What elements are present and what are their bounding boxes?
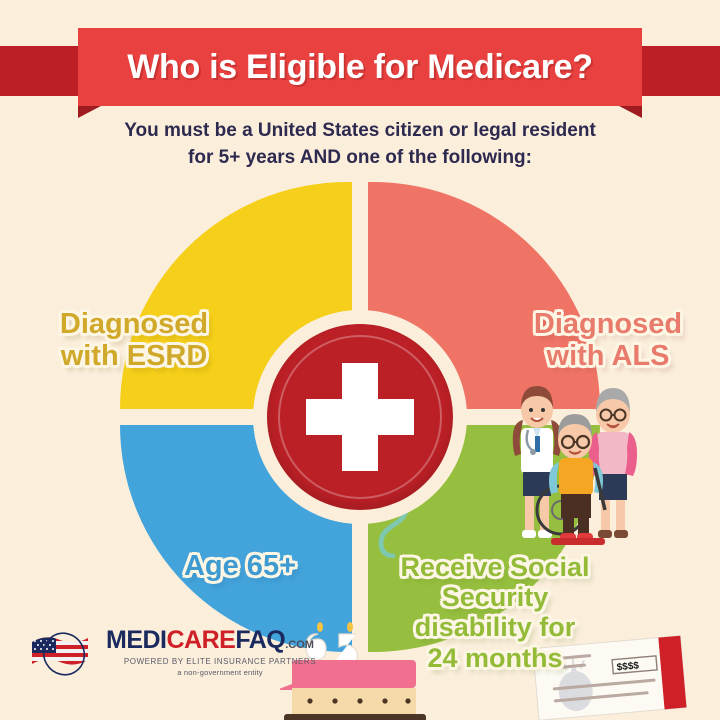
subtitle-block: You must be a United States citizen or l… [0,118,720,172]
medical-cross-icon [306,363,414,471]
logo-wordmark: MEDICAREFAQ.COM [106,628,346,653]
label-ssdi-line-4: 24 months [370,643,620,673]
label-esrd: Diagnosed with ESRD [34,308,234,373]
logo-word-com: .COM [285,639,314,651]
doctor-with-elderly-patients-illustration [503,378,653,546]
label-esrd-line-2: with ESRD [34,340,234,372]
us-flag-orbit-icon [28,630,100,678]
logo-word-faq: FAQ [235,626,285,654]
label-als: Diagnosed with ALS [508,308,708,373]
logo-tagline-2: a non-government entity [106,668,334,677]
infographic-canvas: Who is Eligible for Medicare? You must b… [0,0,720,720]
label-als-line-2: with ALS [508,340,708,372]
label-ssdi-line-2: Security [370,582,620,612]
label-age-line-1: Age 65+ [130,550,350,582]
label-esrd-line-1: Diagnosed [34,308,234,340]
label-ssdi-line-1: Receive Social [370,552,620,582]
label-ssdi-line-3: disability for [370,612,620,642]
header-ribbon: Who is Eligible for Medicare? [0,28,720,106]
page-title: Who is Eligible for Medicare? [127,48,592,87]
subtitle-line-2: for 5+ years AND one of the following: [0,145,720,172]
label-als-line-1: Diagnosed [508,308,708,340]
logo-word-medi: MEDI [106,626,167,654]
label-age: Age 65+ [130,550,350,582]
medicarefaq-logo[interactable]: MEDICAREFAQ.COM POWERED BY ELITE INSURAN… [28,628,348,690]
ribbon-banner: Who is Eligible for Medicare? [78,28,642,106]
hub-circle [267,324,453,510]
logo-word-care: CARE [167,626,236,654]
label-ssdi: Receive Social Security disability for 2… [370,552,620,673]
logo-text-block: MEDICAREFAQ.COM POWERED BY ELITE INSURAN… [106,628,346,677]
logo-tagline-1: POWERED BY ELITE INSURANCE PARTNERS [106,657,334,666]
subtitle-line-1: You must be a United States citizen or l… [0,118,720,145]
